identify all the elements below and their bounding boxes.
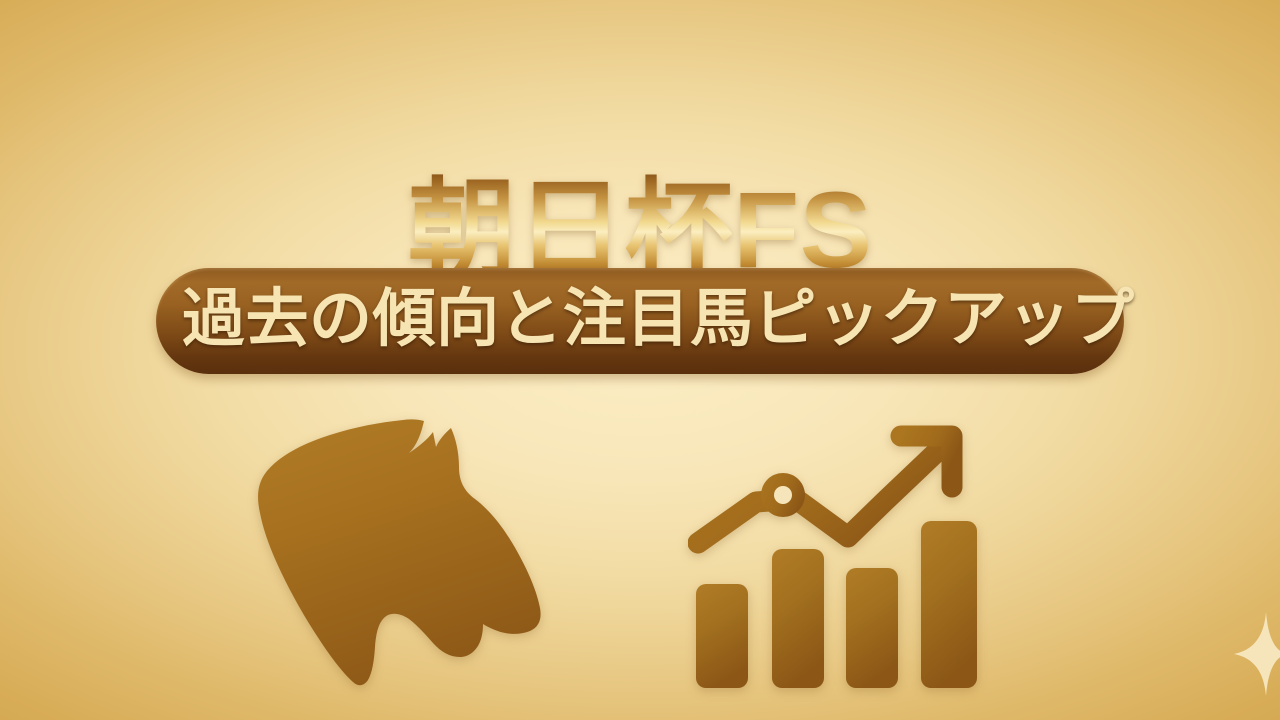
subtitle-container: 過去の傾向と注目馬ピックアップ [0,268,1280,374]
horse-head-icon [243,407,573,707]
bar-chart-growth-icon [688,416,998,700]
chart-bar-3 [846,568,898,688]
chart-bar-4 [921,521,977,688]
icon-row [0,404,1280,704]
chart-bar-2 [772,549,824,688]
chart-bar-1 [696,584,748,688]
trend-node-center [774,486,792,504]
poster-canvas: 朝日杯FS 過去の傾向と注目馬ピックアップ [0,0,1280,720]
trend-line-path [698,443,946,543]
subtitle-pill: 過去の傾向と注目馬ピックアップ [156,268,1124,374]
